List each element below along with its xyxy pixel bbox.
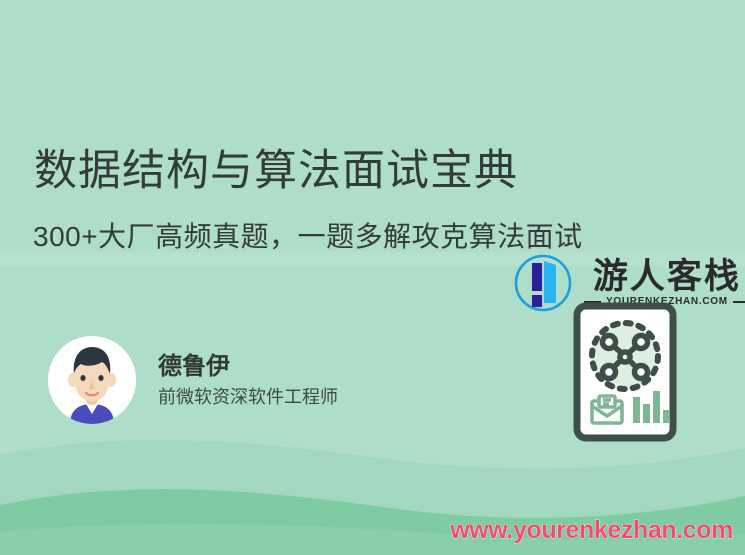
instructor-block: 德鲁伊 前微软资深软件工程师 (48, 336, 338, 424)
watermark-rule-right (733, 301, 745, 303)
instructor-role: 前微软资深软件工程师 (158, 388, 338, 406)
avatar (48, 336, 136, 424)
page-subtitle: 300+大厂高频真题，一题多解攻克算法面试 (33, 220, 583, 254)
course-cover-canvas: 数据结构与算法面试宝典 300+大厂高频真题，一题多解攻克算法面试 (0, 0, 745, 555)
yourenkezhan-circle-logo-icon (512, 252, 574, 314)
instructor-name: 德鲁伊 (158, 355, 338, 379)
instructor-text: 德鲁伊 前微软资深软件工程师 (158, 355, 338, 406)
watermark-text: 游人客栈 YOURENKEZHAN.COM (584, 259, 745, 307)
footer-url: www.yourenkezhan.com (450, 518, 733, 543)
watermark-brand-cn: 游人客栈 (593, 259, 741, 294)
course-card-icon (573, 302, 677, 442)
page-title: 数据结构与算法面试宝典 (34, 147, 518, 195)
